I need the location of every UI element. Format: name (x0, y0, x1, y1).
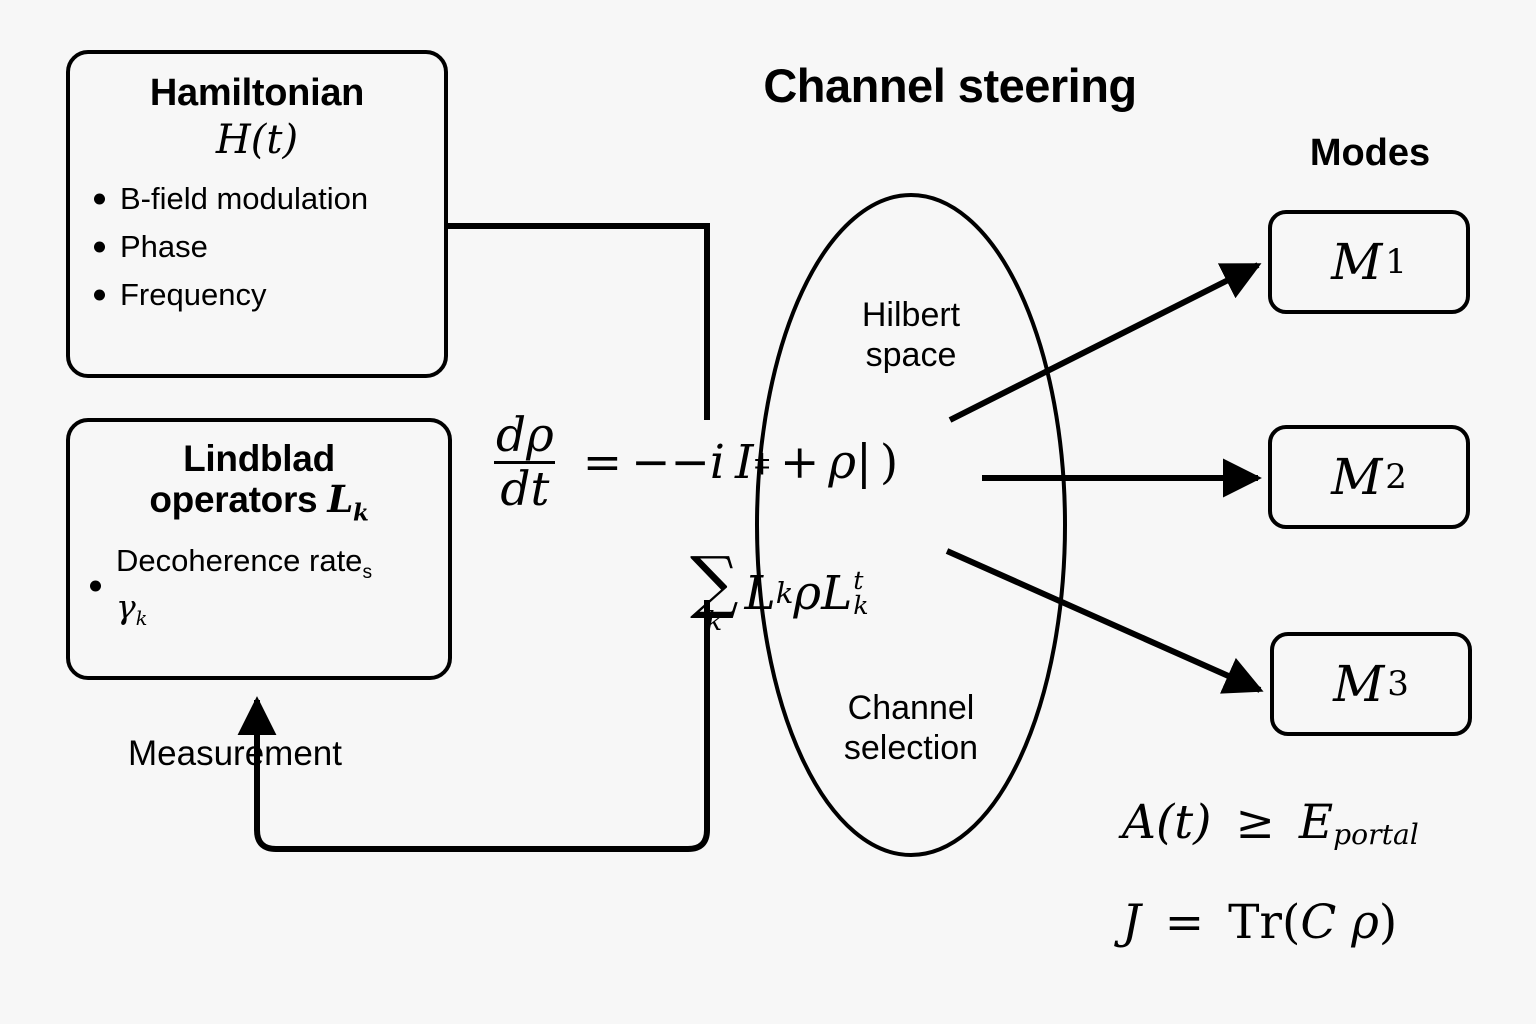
list-item: B-field modulation (86, 175, 444, 223)
hamiltonian-symbol-arg: (t) (251, 117, 298, 163)
hamiltonian-title: Hamiltonian (70, 72, 444, 115)
hilbert-space-label-line2: space (866, 336, 957, 374)
dissipator-rho: ρ (793, 566, 821, 621)
mode-2-base: M (1331, 448, 1382, 506)
master-equation: dρ dt = − −i I⧧ + ρ| ) (490, 412, 898, 513)
cost-equals-sign: = (1165, 895, 1204, 950)
lindblad-title-line2: operators (149, 479, 317, 520)
sigma-glyph: ∑ (690, 552, 739, 615)
decoherence-rate-suffix: s (362, 562, 372, 583)
fraction-denominator: dt (494, 461, 555, 513)
mode-1-subscript: 1 (1385, 242, 1407, 282)
constraint-lhs: A(t) (1122, 795, 1212, 850)
plus-sign: + (780, 435, 819, 490)
lindblad-operator-2-script: t k (853, 568, 868, 619)
gamma-symbol: γ (116, 587, 136, 626)
cost-close-paren: ) (1379, 895, 1397, 950)
gamma-subscript: k (136, 607, 148, 630)
lindblad-symbol: L (327, 477, 353, 521)
mode-box-3[interactable]: M3 (1270, 632, 1472, 736)
identity-symbol: I (735, 435, 754, 490)
channel-selection-label-line1: Channel (848, 689, 975, 727)
vertical-bar: | (856, 435, 872, 490)
constraint-rhs-subscript: portal (1333, 818, 1419, 851)
greater-equal-sign: ≥ (1235, 795, 1274, 850)
page-title: Channel steering (700, 58, 1200, 113)
imaginary-unit: i (710, 435, 725, 490)
lindblad-operator-1: L (745, 566, 776, 621)
sigma-index: k (706, 611, 722, 635)
trace-operator: Tr (1228, 895, 1282, 950)
list-item: Decoherence rates γk (82, 541, 448, 632)
fraction-numerator: dρ (490, 412, 560, 461)
mode-3-base: M (1333, 655, 1384, 713)
hamiltonian-symbol-base: H (216, 117, 251, 163)
hamiltonian-bullet-list: B-field modulation Phase Frequency (86, 175, 444, 319)
arrow-to-mode-3 (947, 551, 1260, 690)
lindblad-operator-1-sub: k (776, 576, 794, 610)
garbled-glyph-icon: ⧧ (754, 443, 771, 483)
hilbert-space-label-line1: Hilbert (862, 296, 960, 334)
rho-symbol: ρ (828, 435, 856, 490)
constraint-rhs-base: E (1299, 795, 1333, 850)
cost-equation: J = Tr(C ρ) (1122, 895, 1397, 950)
channel-selection-label: Channel selection (781, 688, 1041, 768)
hamiltonian-connector (448, 226, 707, 420)
cost-open-paren: ( (1282, 895, 1300, 950)
equals-sign: = (583, 435, 622, 490)
drho-dt-fraction: dρ dt (490, 412, 560, 513)
dissipator-term: ∑ k Lk ρ L t k (690, 552, 869, 634)
constraint-equation: A(t) ≥ Eportal (1122, 795, 1419, 851)
hamiltonian-box[interactable]: Hamiltonian H(t) B-field modulation Phas… (66, 50, 448, 378)
list-item: Frequency (86, 271, 444, 319)
mode-1-base: M (1331, 233, 1382, 291)
mode-box-2[interactable]: M2 (1268, 425, 1470, 529)
hilbert-space-label: Hilbert space (781, 295, 1041, 375)
minus-sign-1: − (631, 435, 670, 490)
decoherence-rate-text: Decoherence rate (116, 543, 362, 578)
lindblad-operator-2: L (821, 566, 852, 621)
cost-matrix-c: C (1300, 895, 1336, 950)
list-item: Phase (86, 223, 444, 271)
lindblad-box[interactable]: Lindblad operators Lk Decoherence rates … (66, 418, 452, 680)
mode-2-subscript: 2 (1385, 457, 1407, 497)
minus-sign-2: − (671, 435, 710, 490)
close-paren: ) (880, 435, 898, 490)
lindblad-bullet-list: Decoherence rates γk (82, 541, 448, 632)
measurement-label: Measurement (128, 734, 342, 774)
cost-lhs: J (1122, 895, 1141, 950)
mode-3-subscript: 3 (1387, 664, 1409, 704)
lindblad-title-line1: Lindblad (183, 438, 335, 479)
lindblad-operator-2-sub: k (853, 593, 868, 618)
diagram-canvas: Channel steering Hamiltonian H(t) B-fiel… (0, 0, 1536, 1024)
mode-box-1[interactable]: M1 (1268, 210, 1470, 314)
hamiltonian-symbol: H(t) (70, 117, 444, 163)
channel-selection-label-line2: selection (844, 729, 978, 767)
summation-symbol: ∑ k (690, 552, 739, 634)
lindblad-symbol-subscript: k (353, 500, 369, 527)
lindblad-title: Lindblad operators Lk (70, 438, 448, 527)
cost-rho: ρ (1351, 895, 1379, 950)
modes-header: Modes (1260, 132, 1480, 175)
